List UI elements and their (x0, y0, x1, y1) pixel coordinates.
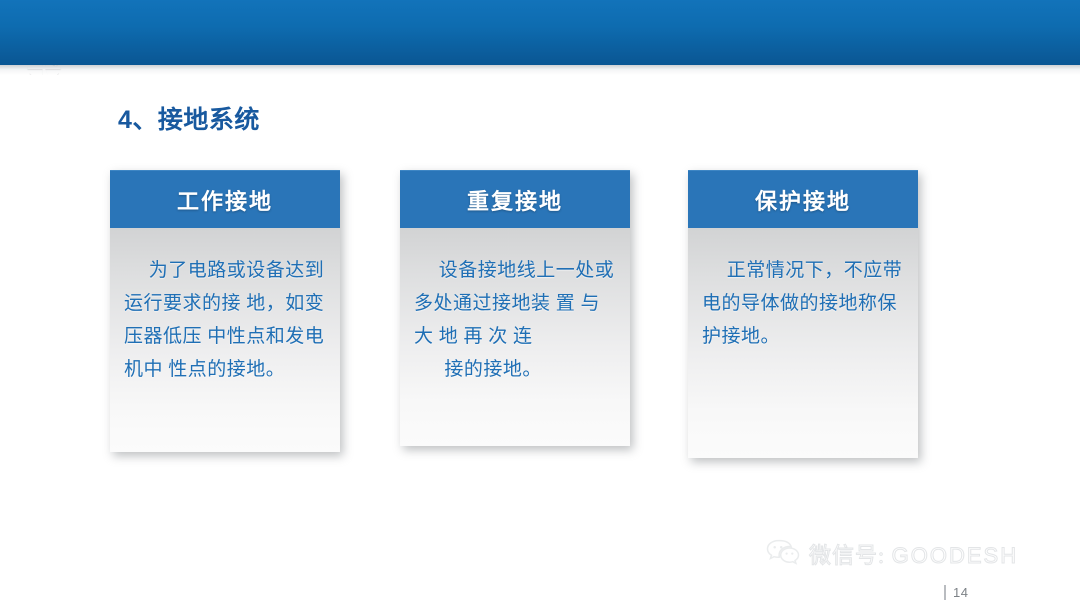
section-subtitle-text: 接地系统 (158, 107, 260, 134)
card-body: 为了电路或设备达到运行要求的接 地，如变压器低压 中性点和发电机中 性点的接地。 (110, 228, 340, 452)
concept-card-repeated-ground: 重复接地 设备接地线上一处或多处通过接地装 置 与 大 地 再 次 连 接的接地… (400, 170, 630, 446)
watermark: 微信号: GOODESH (766, 538, 1018, 570)
page-number-divider (944, 585, 946, 600)
card-body: 正常情况下，不应带电的导体做的接地称保护接地。 (688, 228, 918, 458)
section-subtitle: 4、接地系统 (118, 100, 260, 136)
card-header: 工作接地 (110, 170, 340, 228)
concept-card-protective-ground: 保护接地 正常情况下，不应带电的导体做的接地称保护接地。 (688, 170, 918, 458)
watermark-label-id: GOODESH (892, 543, 1018, 568)
slide-canvas: 求 二、临时用电管理具体要 4、接地系统 工作接地 为了电路或设备达到运行要求的… (0, 0, 1080, 608)
card-header-label: 保护接地 (755, 184, 851, 216)
card-paragraph: 设备接地线上一处或多处通过接地装 置 与 大 地 再 次 连 (414, 254, 616, 353)
card-header-label: 工作接地 (177, 184, 273, 216)
card-paragraph: 接的接地。 (414, 353, 616, 386)
card-header: 保护接地 (688, 170, 918, 228)
section-subtitle-separator: 、 (132, 107, 158, 134)
card-paragraph: 为了电路或设备达到运行要求的接 地，如变压器低压 中性点和发电机中 性点的接地。 (124, 254, 326, 386)
title-bar (0, 0, 1080, 65)
card-header: 重复接地 (400, 170, 630, 228)
section-subtitle-number: 4 (118, 106, 132, 134)
concept-card-working-ground: 工作接地 为了电路或设备达到运行要求的接 地，如变压器低压 中性点和发电机中 性… (110, 170, 340, 452)
concept-card-group: 工作接地 为了电路或设备达到运行要求的接 地，如变压器低压 中性点和发电机中 性… (110, 170, 960, 470)
card-paragraph: 正常情况下，不应带电的导体做的接地称保护接地。 (702, 254, 904, 353)
page-number: 14 (944, 585, 968, 600)
watermark-label-cn: 微信号: (809, 543, 885, 568)
card-body: 设备接地线上一处或多处通过接地装 置 与 大 地 再 次 连 接的接地。 (400, 228, 630, 446)
watermark-label: 微信号: GOODESH (809, 538, 1018, 570)
wechat-icon (766, 539, 800, 570)
page-number-label: 14 (953, 585, 968, 600)
title-bar-shadow (0, 65, 1080, 75)
card-header-label: 重复接地 (467, 184, 563, 216)
